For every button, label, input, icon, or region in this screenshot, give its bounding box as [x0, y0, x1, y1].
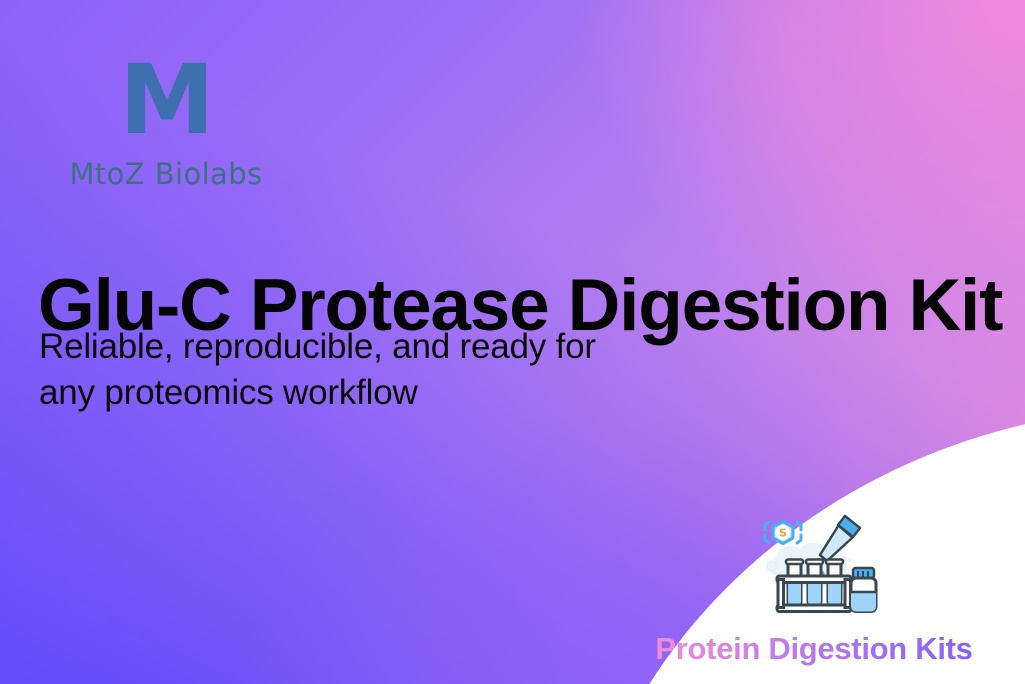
logo-m-mark: M — [36, 52, 296, 148]
lab-test-tube-rack-pipette-vial-icon: S — [747, 512, 882, 624]
product-category-block: S — [612, 498, 1016, 668]
product-category-label: Protein Digestion Kits — [612, 630, 1016, 668]
page-subtitle-line-2: any proteomics workflow — [39, 370, 659, 416]
protein-hexagon-s-icon: S — [765, 522, 801, 544]
test-tube-rack-icon — [777, 560, 851, 612]
page-subtitle-line-1: Reliable, reproducible, and ready for — [39, 324, 659, 370]
logo-wordmark: MtoZ Biolabs — [36, 158, 296, 190]
page-subtitle: Reliable, reproducible, and ready for an… — [39, 324, 659, 416]
brand-logo: M MtoZ Biolabs — [36, 52, 296, 190]
marketing-banner: M MtoZ Biolabs Glu-C Protease Digestion … — [0, 0, 1025, 684]
reagent-vial-icon — [851, 568, 876, 612]
svg-text:S: S — [779, 527, 787, 540]
